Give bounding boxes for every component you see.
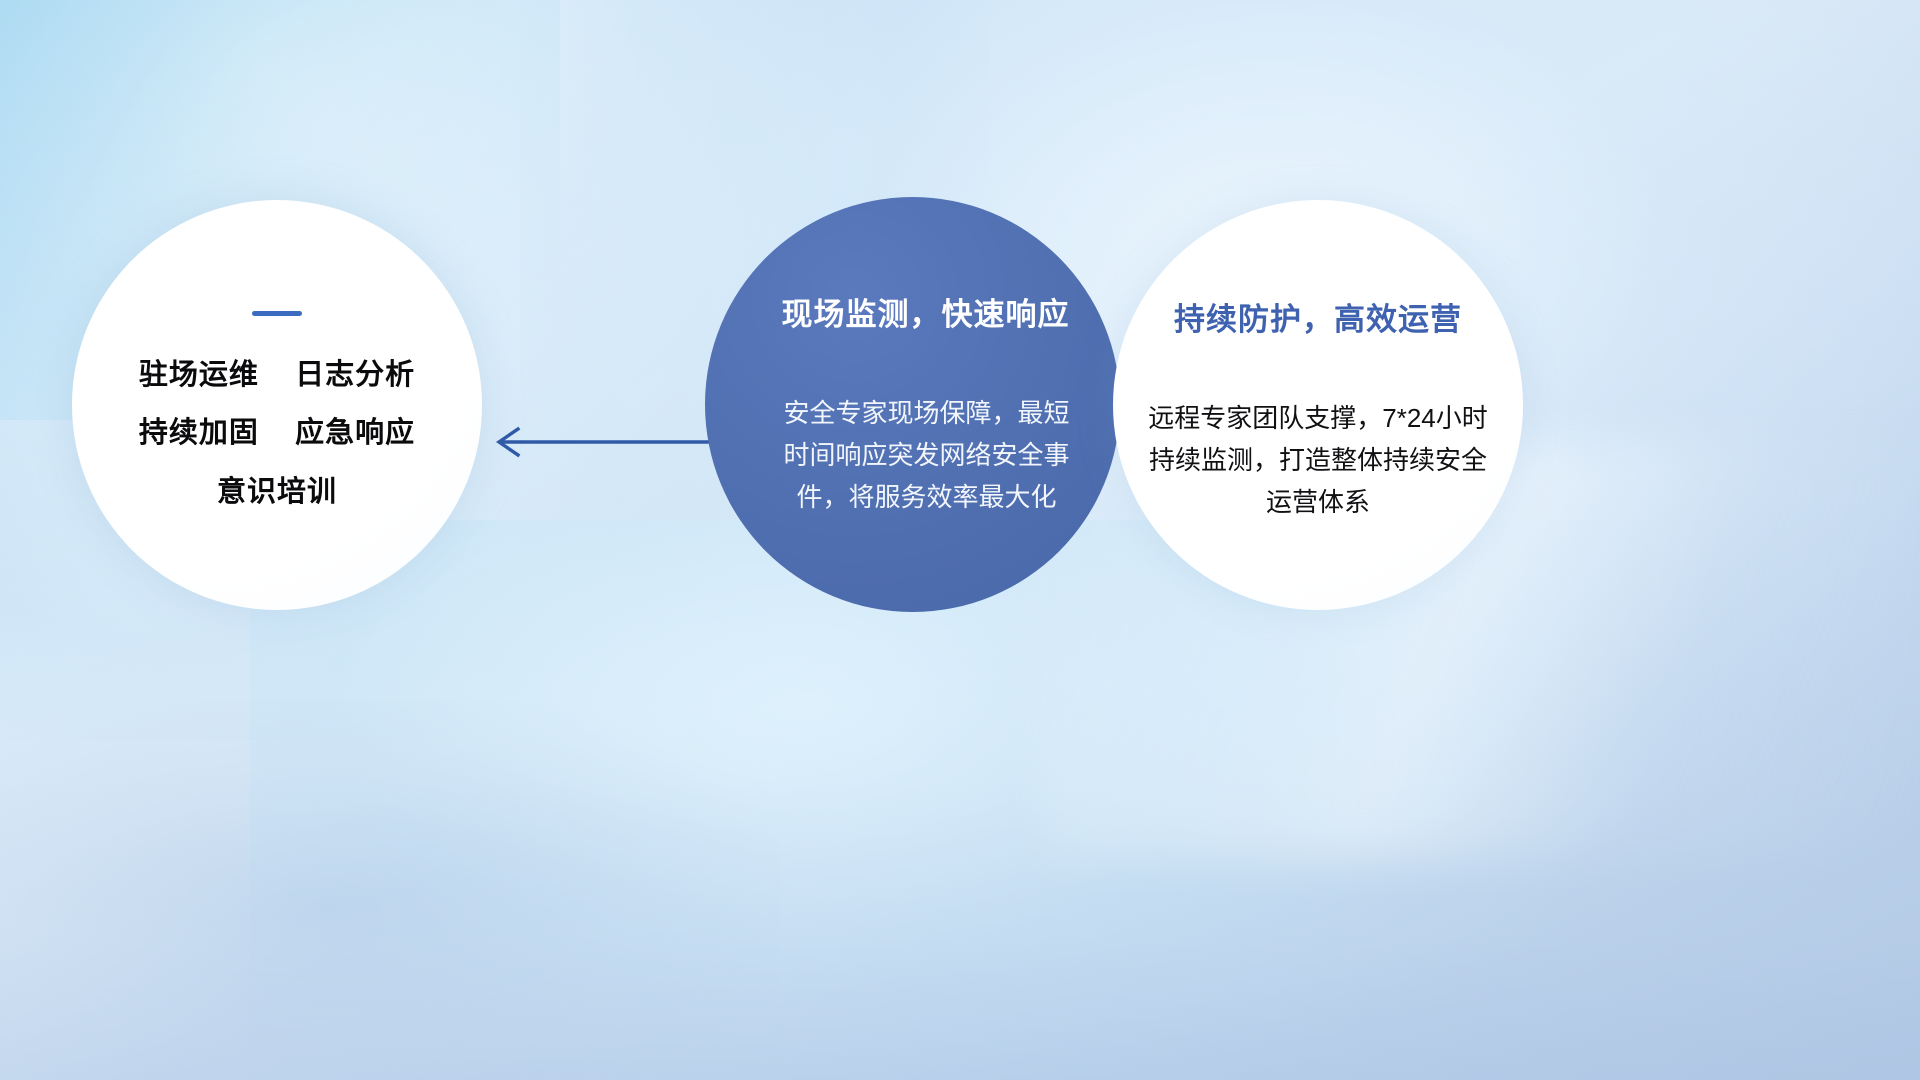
service-circle-onsite-title: 现场监测，快速响应 — [782, 289, 1070, 334]
service-circle-remote-body: 远程专家团队支撑，7*24小时持续监测，打造整体持续安全运营体系 — [1142, 397, 1494, 523]
background-tint-bottom — [0, 780, 1920, 1080]
capability-line-2: 持续加固 应急响应 — [139, 418, 415, 448]
service-circle-remote[interactable]: 持续防护，高效运营 远程专家团队支撑，7*24小时持续监测，打造整体持续安全运营… — [1113, 200, 1523, 610]
service-circle-onsite[interactable]: 现场监测，快速响应 安全专家现场保障，最短时间响应突发网络安全事件，将服务效率最… — [705, 197, 1120, 612]
capability-line-1: 驻场运维 日志分析 — [139, 360, 415, 390]
service-circle-onsite-content: 现场监测，快速响应 安全专家现场保障，最短时间响应突发网络安全事件，将服务效率最… — [705, 197, 1120, 612]
slide-canvas: 驻场运维 日志分析 持续加固 应急响应 意识培训 现场监测，快速响应 安全专家现… — [0, 0, 1920, 1080]
service-circle-remote-content: 持续防护，高效运营 远程专家团队支撑，7*24小时持续监测，打造整体持续安全运营… — [1113, 200, 1523, 610]
capability-line-3: 意识培训 — [217, 477, 337, 507]
capability-circle-left-content: 驻场运维 日志分析 持续加固 应急响应 意识培训 — [72, 200, 482, 610]
service-circle-remote-title: 持续防护，高效运营 — [1174, 294, 1462, 339]
divider-rule — [252, 311, 302, 316]
capability-circle-left[interactable]: 驻场运维 日志分析 持续加固 应急响应 意识培训 — [72, 200, 482, 610]
service-circle-onsite-body: 安全专家现场保障，最短时间响应突发网络安全事件，将服务效率最大化 — [777, 392, 1077, 518]
